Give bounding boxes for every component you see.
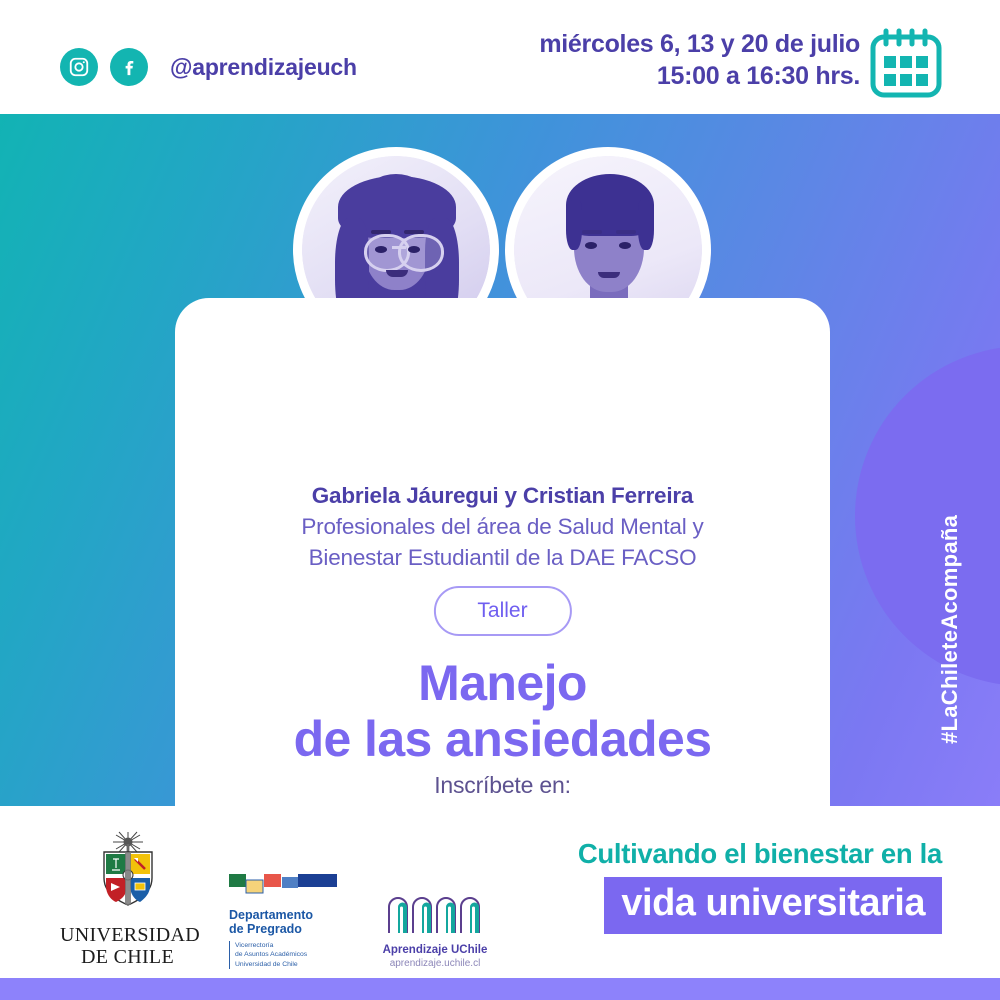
social-group: @aprendizajeuch — [60, 48, 357, 86]
uchile-name-line-1: UNIVERSIDAD — [60, 924, 195, 946]
calendar-icon — [867, 28, 945, 100]
departamento-sub-line-3: Universidad de Chile — [235, 960, 341, 969]
speaker-role-line-1: Profesionales del área de Salud Mental y — [175, 511, 830, 542]
event-title: Manejo de las ansiedades — [175, 656, 830, 767]
signup-label: Inscríbete en: — [175, 772, 830, 799]
tagline-top: Cultivando el bienestar en la — [578, 838, 942, 870]
content-card: Gabriela Jáuregui y Cristian Ferreira Pr… — [175, 298, 830, 806]
event-date-block: miércoles 6, 13 y 20 de julio 15:00 a 16… — [539, 28, 860, 92]
purple-circle-decoration — [855, 346, 1000, 686]
logo-universidad-de-chile: UNIVERSIDAD DE CHILE — [60, 830, 195, 969]
departamento-sub-line-2: de Asuntos Académicos — [235, 950, 341, 959]
event-time-line-2: 15:00 a 16:30 hrs. — [539, 60, 860, 92]
departamento-sub-line-1: Vicerrectoría — [235, 941, 341, 950]
event-title-line-2: de las ansiedades — [175, 712, 830, 768]
uchile-shield-icon — [89, 830, 167, 914]
departamento-mark-icon — [229, 872, 337, 898]
aprendizaje-wave-icon — [383, 891, 487, 935]
bottom-accent-strip — [0, 978, 1000, 1000]
speaker-role-line-2: Bienestar Estudiantil de la DAE FACSO — [175, 542, 830, 573]
hashtag-label: #LaChileteAcompaña — [930, 489, 970, 769]
header-bar: @aprendizajeuch miércoles 6, 13 y 20 de … — [0, 0, 1000, 114]
departamento-title-line-2: de Pregrado — [229, 922, 341, 936]
logo-group: UNIVERSIDAD DE CHILE Departamento de Pre… — [60, 830, 495, 969]
tagline-block: Cultivando el bienestar en la vida unive… — [578, 838, 942, 934]
speaker-names: Gabriela Jáuregui y Cristian Ferreira — [175, 481, 830, 511]
logo-aprendizaje-uchile: Aprendizaje UChile aprendizaje.uchile.cl — [375, 881, 495, 969]
footer-bar: UNIVERSIDAD DE CHILE Departamento de Pre… — [0, 806, 1000, 978]
tagline-highlight: vida universitaria — [604, 877, 942, 934]
event-title-line-1: Manejo — [175, 656, 830, 712]
category-pill[interactable]: Taller — [433, 586, 571, 636]
logo-departamento-pregrado: Departamento de Pregrado Vicerrectoría d… — [229, 856, 341, 969]
hero-gradient: #LaChileteAcompaña — [0, 114, 1000, 806]
event-date-line-1: miércoles 6, 13 y 20 de julio — [539, 28, 860, 60]
aprendizaje-name: Aprendizaje UChile — [375, 944, 495, 956]
social-handle[interactable]: @aprendizajeuch — [170, 54, 357, 81]
instagram-icon[interactable] — [60, 48, 98, 86]
facebook-icon[interactable] — [110, 48, 148, 86]
speaker-block: Gabriela Jáuregui y Cristian Ferreira Pr… — [175, 481, 830, 573]
uchile-name-line-2: DE CHILE — [60, 946, 195, 968]
poster-root: @aprendizajeuch miércoles 6, 13 y 20 de … — [0, 0, 1000, 1000]
aprendizaje-url[interactable]: aprendizaje.uchile.cl — [375, 958, 495, 969]
signup-block: Inscríbete en: avirtual.uchile.cl — [175, 772, 830, 806]
departamento-title-line-1: Departamento — [229, 908, 341, 922]
